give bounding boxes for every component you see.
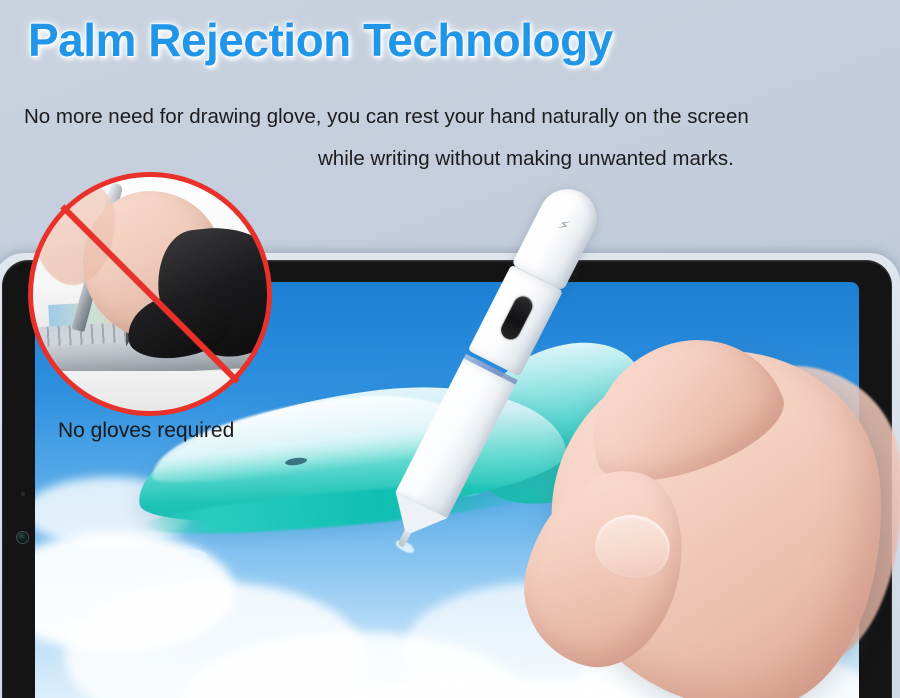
camera-lens-icon	[17, 532, 28, 543]
no-gloves-label: No gloves required	[58, 419, 234, 443]
no-gloves-badge	[28, 172, 272, 416]
stylus-tip	[397, 530, 411, 547]
subtitle-line-1: No more need for drawing glove, you can …	[24, 104, 749, 130]
page-title: Palm Rejection Technology	[28, 16, 872, 64]
marketing-banner: Palm Rejection Technology No more need f…	[0, 0, 900, 698]
subtitle-line-2: while writing without making unwanted ma…	[318, 146, 734, 172]
sensor-dot-icon	[21, 492, 25, 496]
